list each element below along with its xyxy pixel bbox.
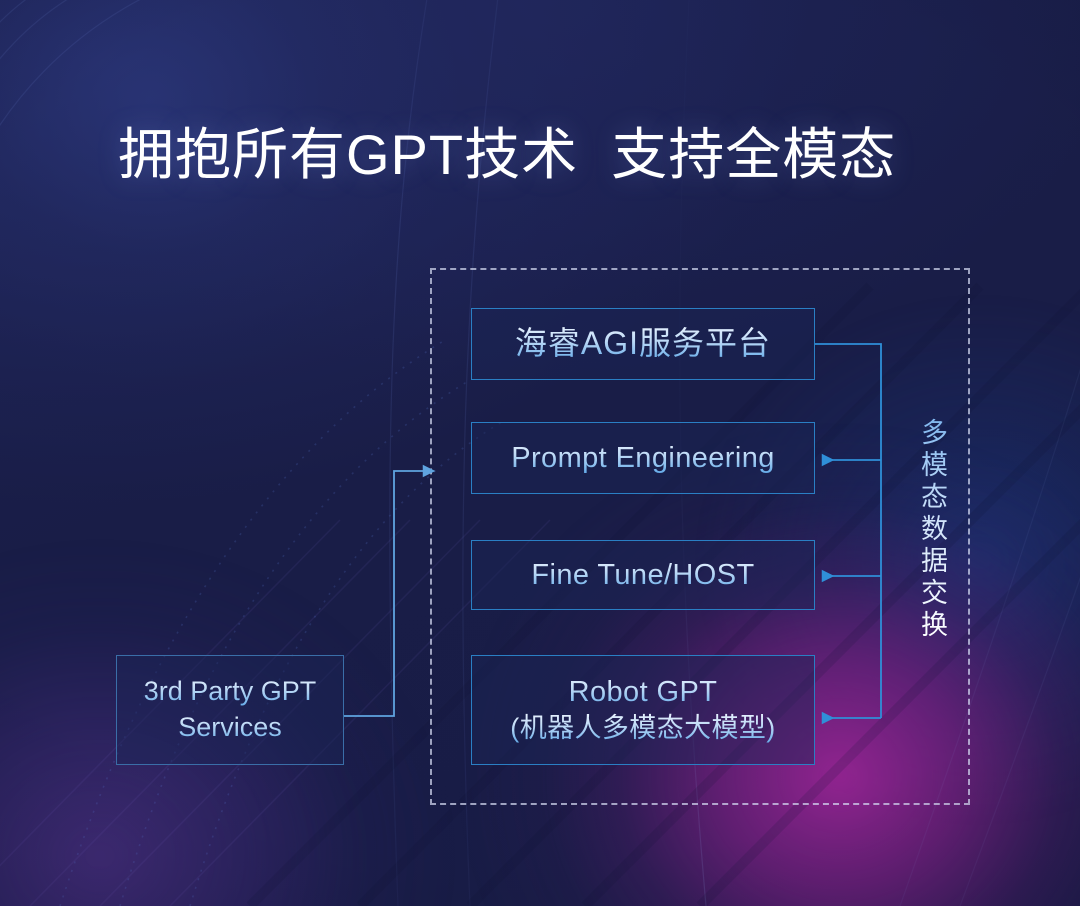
box-agi-platform[interactable]: 海睿AGI服务平台 (471, 308, 815, 380)
box-fine-tune-host[interactable]: Fine Tune/HOST (471, 540, 815, 610)
box-third-party-label-primary: 3rd Party GPT (144, 676, 317, 708)
box-third-party-gpt-services[interactable]: 3rd Party GPT Services (116, 655, 344, 765)
box-robot-gpt[interactable]: Robot GPT (机器人多模态大模型) (471, 655, 815, 765)
box-robot-gpt-label-secondary: (机器人多模态大模型) (510, 713, 775, 745)
box-robot-gpt-label-primary: Robot GPT (569, 675, 718, 709)
box-fine-tune-host-label: Fine Tune/HOST (531, 558, 754, 592)
vertical-label-multimodal-data-exchange: 多模态数据交换 (912, 418, 952, 642)
box-prompt-engineering-label: Prompt Engineering (511, 441, 775, 475)
slide-canvas: 拥抱所有GPT技术 支持全模态 海睿AGI服务平台 (0, 0, 1080, 906)
page-title: 拥抱所有GPT技术 支持全模态 (118, 110, 896, 191)
box-third-party-label-secondary: Services (178, 712, 282, 744)
box-prompt-engineering[interactable]: Prompt Engineering (471, 422, 815, 494)
box-agi-platform-label: 海睿AGI服务平台 (515, 325, 771, 363)
